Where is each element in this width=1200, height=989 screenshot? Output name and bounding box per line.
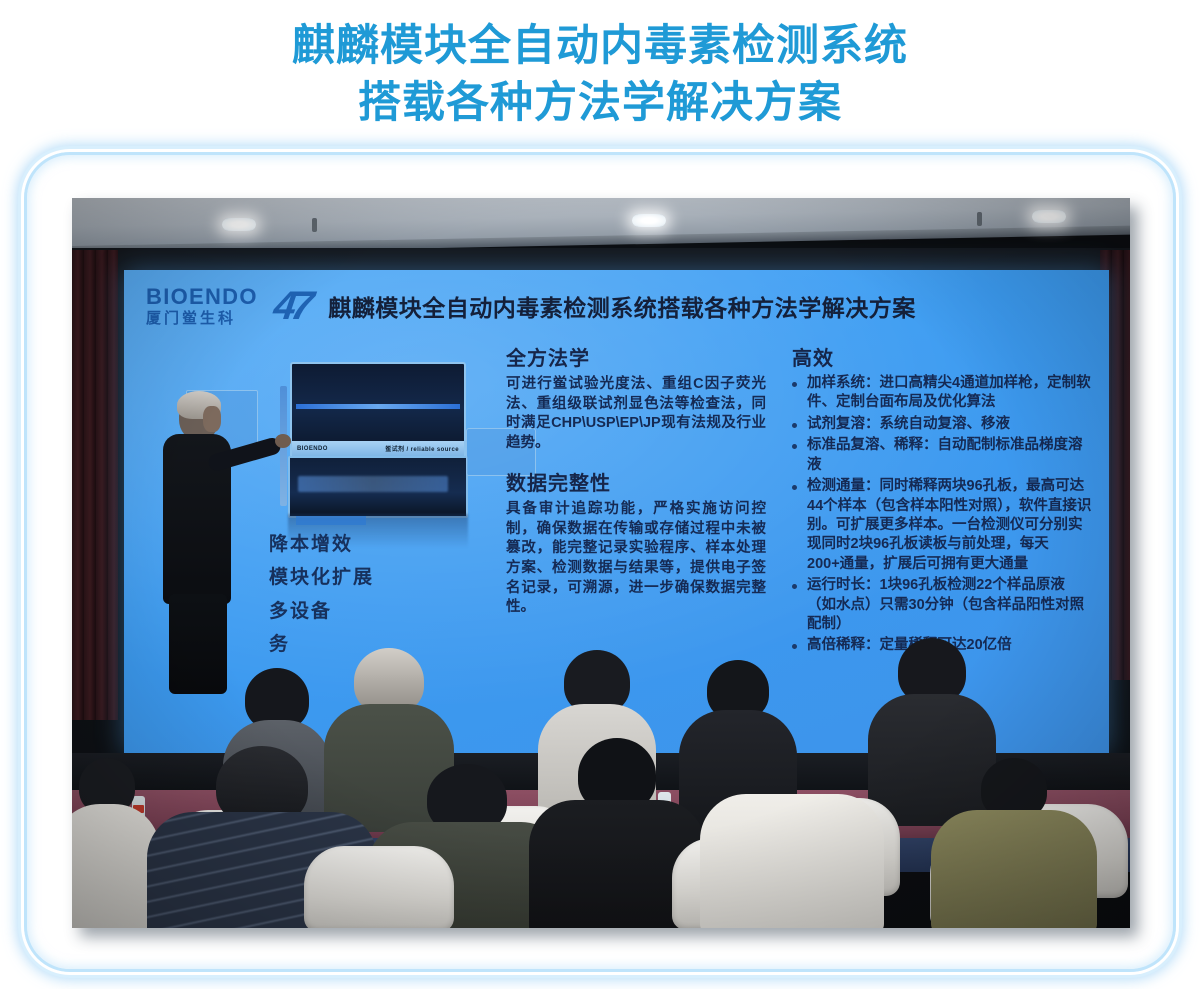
efficiency-bullet: 高倍稀释：定量稀释可达20亿倍	[792, 636, 1092, 655]
ceiling-clip	[977, 212, 982, 226]
ceiling-clip	[312, 218, 317, 232]
ceiling-light-icon	[632, 214, 666, 227]
presenter	[157, 394, 249, 694]
slide-header: BIOENDO 厦门鲎生科 47 麒麟模块全自动内毒素检测系统搭载各种方法学解决…	[146, 282, 1103, 330]
conference-photo: BIOENDO 厦门鲎生科 47 麒麟模块全自动内毒素检测系统搭载各种方法学解决…	[72, 198, 1130, 928]
presenter-legs	[169, 594, 227, 694]
efficiency-bullet: 加样系统：进口高精尖4通道加样枪，定制软件、定制台面布局及优化算法	[792, 374, 1092, 413]
presenter-face	[203, 406, 221, 432]
photo-frame: BIOENDO 厦门鲎生科 47 麒麟模块全自动内毒素检测系统搭载各种方法学解决…	[24, 152, 1176, 972]
overlay-line-3: 多设备	[269, 595, 374, 628]
overlay-line-2: 模块化扩展	[269, 561, 374, 594]
logo-chinese: 厦门鲎生科	[146, 311, 258, 326]
ceiling-light-icon	[222, 218, 256, 231]
overlay-line-1: 降本增效	[269, 528, 374, 561]
section-heading-methodology: 全方法学	[506, 342, 766, 371]
logo-english: BIOENDO	[146, 286, 258, 308]
efficiency-bullet: 运行时长：1块96孔板检测22个样品原液（如水点）只需30分钟（包含样品阳性对照…	[792, 576, 1092, 634]
curtain-left	[72, 250, 118, 720]
slide-title: 麒麟模块全自动内毒素检测系统搭载各种方法学解决方案	[328, 289, 916, 323]
slide-left-overlay: 降本增效 模块化扩展 多设备 务	[269, 528, 374, 661]
equipment-reflection-stripe	[296, 516, 366, 525]
stage-edge	[72, 753, 1130, 793]
presenter-hand	[275, 434, 291, 448]
equipment-label-left: BIOENDO	[297, 446, 328, 452]
page-title: 麒麟模块全自动内毒素检测系统 搭载各种方法学解决方案	[0, 0, 1200, 132]
table-top	[72, 838, 1130, 872]
equipment-light-stripe	[296, 404, 460, 409]
equipment-base	[288, 456, 468, 518]
overlay-line-4: 务	[269, 628, 374, 661]
section-body-methodology: 可进行鲎试验光度法、重组C因子荧光法、重组级联试剂显色法等检查法，同时满足CHP…	[506, 375, 766, 453]
spacer	[506, 453, 766, 467]
section-body-data-integrity: 具备审计追踪功能，严格实施访问控制，确保数据在传输或存储过程中未被篡改，能完整记…	[506, 500, 766, 617]
projection-screen: BIOENDO 厦门鲎生科 47 麒麟模块全自动内毒素检测系统搭载各种方法学解决…	[124, 270, 1109, 753]
section-heading-efficiency: 高效	[792, 342, 1092, 371]
bioendo-logo: BIOENDO 厦门鲎生科	[146, 286, 258, 326]
equipment-panel: BIOENDO 鲎试剂 / reliable source	[290, 362, 466, 458]
efficiency-bullet: 标准品复溶、稀释：自动配制标准品梯度溶液	[792, 436, 1092, 475]
page-title-line-2: 搭载各种方法学解决方案	[0, 75, 1200, 132]
section-heading-data-integrity: 数据完整性	[506, 467, 766, 496]
logo-mark-47-icon: 47	[271, 284, 312, 329]
slide-right-column: 高效 加样系统：进口高精尖4通道加样枪，定制软件、定制台面布局及优化算法 试剂复…	[792, 342, 1092, 658]
efficiency-bullet: 试剂复溶：系统自动复溶、移液	[792, 415, 1092, 434]
efficiency-bullet: 检测通量：同时稀释两块96孔板，最高可达44个样本（包含样本阳性对照），软件直接…	[792, 477, 1092, 574]
slide-middle-column: 全方法学 可进行鲎试验光度法、重组C因子荧光法、重组级联试剂显色法等检查法，同时…	[506, 342, 766, 618]
equipment-label-right: 鲎试剂 / reliable source	[385, 444, 459, 453]
equipment-label: BIOENDO 鲎试剂 / reliable source	[292, 441, 464, 456]
ceiling-light-icon	[1032, 210, 1066, 223]
page-title-line-1: 麒麟模块全自动内毒素检测系统	[0, 18, 1200, 75]
